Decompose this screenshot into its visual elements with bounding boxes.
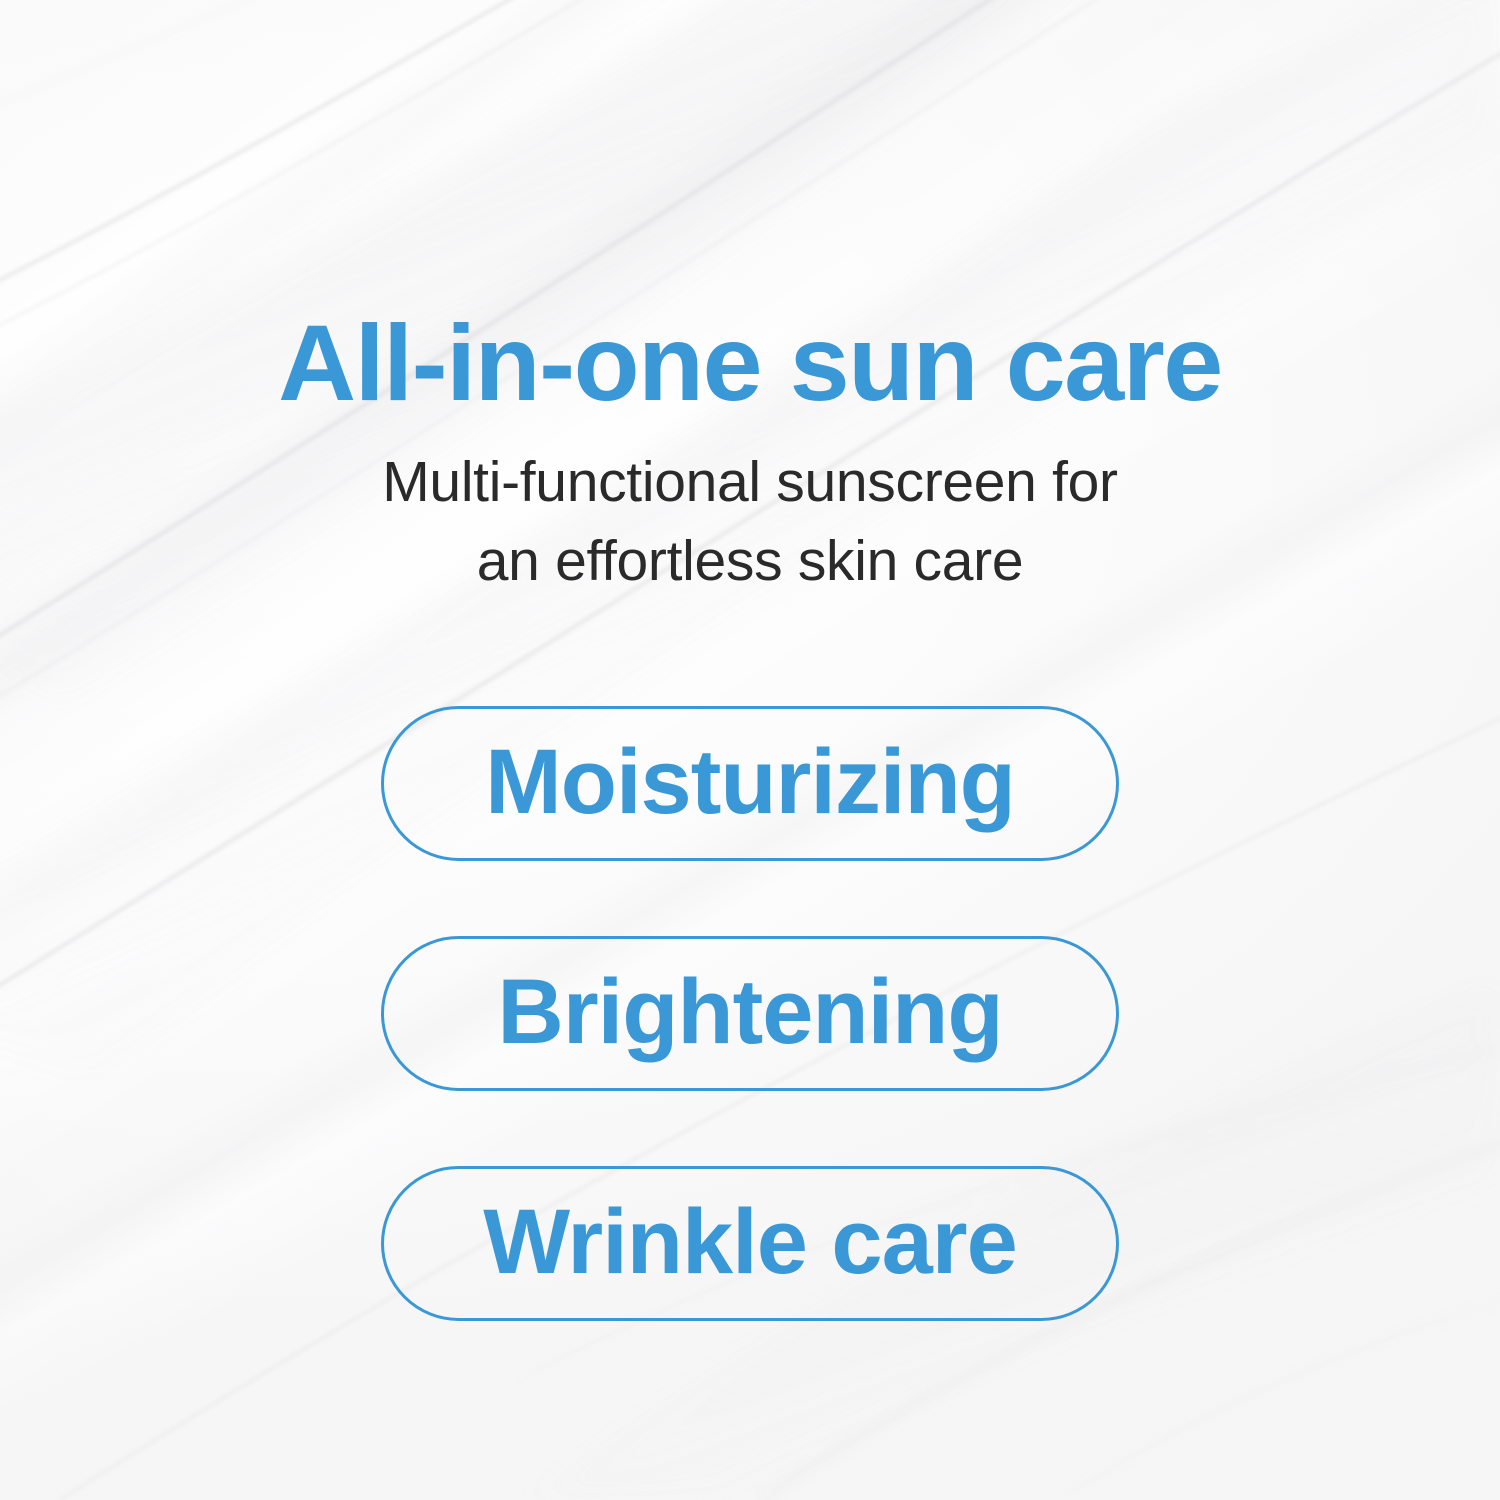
benefit-pill-list: Moisturizing Brightening Wrinkle care: [381, 706, 1119, 1321]
page-title: All-in-one sun care: [0, 308, 1500, 418]
benefit-pill-label: Moisturizing: [485, 736, 1015, 828]
benefit-pill-label: Brightening: [497, 966, 1002, 1058]
subtitle-line-2: an effortless skin care: [0, 522, 1500, 601]
banner-content: All-in-one sun care Multi-functional sun…: [0, 0, 1500, 1500]
product-feature-banner: All-in-one sun care Multi-functional sun…: [0, 0, 1500, 1500]
benefit-pill-label: Wrinkle care: [483, 1196, 1017, 1288]
page-subtitle: Multi-functional sunscreen for an effort…: [0, 443, 1500, 600]
benefit-pill-wrinkle-care[interactable]: Wrinkle care: [381, 1166, 1119, 1321]
benefit-pill-brightening[interactable]: Brightening: [381, 936, 1119, 1091]
benefit-pill-moisturizing[interactable]: Moisturizing: [381, 706, 1119, 861]
subtitle-line-1: Multi-functional sunscreen for: [0, 443, 1500, 522]
